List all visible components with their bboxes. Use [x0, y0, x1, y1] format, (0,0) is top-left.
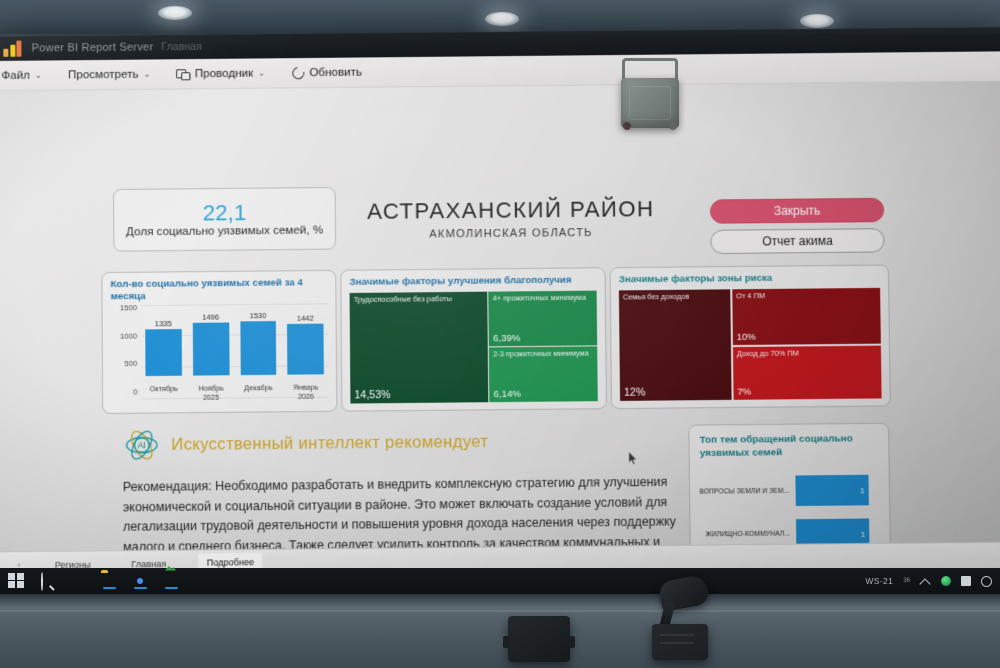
plot-area: 1335 1496 1530 1442	[141, 295, 328, 406]
conference-speaker-device	[508, 616, 570, 662]
bar-value-label: 1	[860, 486, 864, 495]
treemap: Трудоспособные без работы 14,53% 4+ прож…	[350, 291, 598, 404]
ceiling-light	[485, 12, 519, 26]
mounted-camera-device	[613, 54, 687, 130]
treemap-node-label: 4+ прожиточных минимума	[493, 294, 594, 304]
treemap-card-risk-factors[interactable]: Значимые факторы зоны риска Семья без до…	[610, 265, 891, 410]
ai-atom-icon: AI	[124, 428, 159, 463]
bar-value-label: 1530	[249, 311, 266, 320]
chevron-down-icon: ⌄	[144, 70, 151, 79]
treemap-node[interactable]: Семья без доходов 12%	[619, 289, 732, 401]
ai-heading: Искусственный интеллект рекомендует	[171, 432, 488, 454]
chart-title: Топ тем обращений социально уязвимых сем…	[700, 432, 879, 461]
treemap-node[interactable]: Трудоспособные без работы 14,53%	[350, 292, 489, 404]
treemap-card-wellbeing-factors[interactable]: Значимые факторы улучшения благополучия …	[340, 267, 607, 411]
explorer-icon	[177, 67, 190, 80]
treemap-node-value: 7%	[737, 386, 751, 397]
y-tick: 1000	[111, 331, 137, 340]
tray-app-icon[interactable]	[961, 576, 971, 586]
bar-rect	[145, 329, 181, 376]
tray-machine-label: WS-21	[865, 576, 893, 586]
bar-rect	[287, 324, 324, 375]
bar-item[interactable]: 1335	[145, 301, 182, 376]
display-screen: Power BI Report Server Главная Файл ⌄ Пр…	[0, 27, 1000, 578]
bar-category-label: ЖИЛИЩНО-КОММУНАЛ...	[699, 531, 797, 539]
page-title: АСТРАХАНСКИЙ РАЙОН	[344, 196, 678, 225]
svg-text:AI: AI	[138, 441, 146, 451]
treemap-node[interactable]: 4+ прожиточных минимума 6,39%	[489, 291, 598, 347]
y-axis-ticks: 1500 1000 500 0	[111, 303, 138, 397]
ceiling-light	[800, 14, 834, 28]
bar-value-label: 1496	[202, 313, 219, 322]
treemap-node-label: От 4 ПМ	[736, 291, 877, 301]
ceiling-light	[158, 6, 192, 20]
button-refresh[interactable]: Обновить	[291, 66, 362, 80]
desk-surface	[0, 594, 1000, 668]
mouse-cursor	[629, 452, 638, 465]
bar-rect: 1	[795, 475, 868, 506]
menu-explorer[interactable]: Проводник ⌄	[177, 66, 265, 80]
treemap-node-value: 14,53%	[354, 389, 390, 402]
treemap-node-value: 6,39%	[493, 333, 520, 344]
x-tick: Ноябрь 2025	[193, 383, 229, 402]
treemap-node-value: 10%	[737, 332, 756, 343]
menu-view[interactable]: Просмотреть ⌄	[68, 68, 150, 81]
camera-body	[621, 78, 679, 128]
app-icon[interactable]	[163, 573, 180, 590]
app-title: Power BI Report Server	[32, 41, 154, 54]
chevron-down-icon: ⌄	[35, 71, 42, 80]
kpi-value: 22,1	[203, 201, 246, 224]
treemap-node-label: 2-3 прожиточных минимума	[493, 350, 594, 360]
close-button[interactable]: Закрыть	[710, 198, 884, 224]
bar-series: 1335 1496 1530 1442	[141, 299, 328, 376]
treemap-node-label: Доход до 70% ПМ	[737, 348, 878, 358]
report-canvas: 22,1 Доля социально уязвимых семей, % АС…	[0, 82, 1000, 578]
ptz-camera-base	[652, 624, 708, 660]
treemap-node-value: 6,14%	[494, 389, 521, 400]
x-tick: Январь 2026	[288, 382, 324, 401]
ptz-camera-device	[648, 578, 710, 664]
treemap-node-value: 12%	[624, 386, 645, 398]
y-tick: 500	[111, 359, 137, 368]
menu-view-label: Просмотреть	[68, 68, 139, 81]
bar-item[interactable]: 1442	[287, 299, 324, 374]
treemap-node-label: Трудоспособные без работы	[354, 295, 484, 305]
ai-recommendation-header: AI Искусственный интеллект рекомендует	[124, 425, 488, 463]
bar-value-label: 1442	[297, 314, 314, 323]
chart-card-families-count[interactable]: Кол-во социально уязвимых семей за 4 мес…	[101, 270, 337, 414]
y-tick: 0	[111, 387, 137, 396]
bar-item[interactable]: 1496	[192, 300, 229, 375]
page-title-block: АСТРАХАНСКИЙ РАЙОН АКМОЛИНСКАЯ ОБЛАСТЬ	[344, 196, 678, 242]
treemap-node[interactable]: Доход до 70% ПМ 7%	[733, 345, 882, 400]
kpi-label: Доля социально уязвимых семей, %	[126, 224, 323, 238]
chrome-browser-icon[interactable]	[132, 573, 149, 590]
button-refresh-label: Обновить	[309, 66, 362, 79]
search-icon[interactable]	[39, 573, 56, 590]
treemap-node[interactable]: От 4 ПМ 10%	[732, 288, 881, 345]
bar-item[interactable]: ВОПРОСЫ ЗЕМЛИ И ЗЕМ... 1	[698, 475, 881, 507]
treemap: Семья без доходов 12% От 4 ПМ 10% Доход …	[619, 288, 882, 401]
power-bi-logo-icon	[3, 41, 23, 57]
x-tick: Октябрь	[146, 384, 182, 403]
bar-chart: 1500 1000 500 0 1335 149	[111, 295, 331, 407]
camera-knob-icon	[623, 122, 631, 130]
treemap-node[interactable]: 2-3 прожиточных минимума 6,14%	[489, 347, 598, 403]
network-icon[interactable]	[981, 576, 992, 587]
kpi-card-vulnerable-share: 22,1 Доля социально уязвимых семей, %	[113, 187, 336, 252]
bar-value-label: 1335	[155, 319, 172, 328]
bar-value-label: 1	[861, 529, 865, 538]
tray-badge: 36	[903, 578, 910, 584]
system-tray: WS-21 36	[865, 568, 992, 594]
menu-file-label: Файл	[1, 69, 30, 81]
document-title: Главная	[161, 41, 201, 53]
bar-category-label: ВОПРОСЫ ЗЕМЛИ И ЗЕМ...	[698, 487, 795, 495]
windows-taskbar: WS-21 36	[0, 568, 1000, 594]
bar-rect	[240, 321, 277, 375]
chevron-down-icon: ⌄	[258, 68, 265, 77]
chart-title: Значимые факторы зоны риска	[619, 272, 880, 287]
file-explorer-icon[interactable]	[101, 573, 118, 590]
chart-title: Значимые факторы улучшения благополучия	[349, 274, 596, 289]
y-tick: 1500	[111, 303, 137, 312]
desk-edge	[0, 610, 1000, 612]
menu-file[interactable]: Файл ⌄	[1, 69, 41, 81]
status-indicator-icon[interactable]	[941, 576, 951, 586]
edge-browser-icon[interactable]	[70, 573, 87, 590]
treemap-node-label: Семья без доходов	[623, 292, 728, 302]
x-tick: Декабрь	[240, 383, 276, 402]
x-axis-labels: Октябрь Ноябрь 2025 Декабрь Январь 2026	[141, 382, 328, 402]
bar-rect	[193, 323, 230, 376]
menu-explorer-label: Проводник	[195, 67, 253, 80]
page-subtitle: АКМОЛИНСКАЯ ОБЛАСТЬ	[344, 226, 678, 241]
akim-report-button[interactable]: Отчет акима	[710, 228, 884, 254]
camera-knob-icon	[669, 122, 677, 130]
refresh-icon	[291, 66, 304, 79]
start-button-icon[interactable]	[8, 573, 25, 590]
chevron-up-icon[interactable]	[920, 576, 931, 587]
bar-item[interactable]: 1530	[240, 300, 277, 375]
